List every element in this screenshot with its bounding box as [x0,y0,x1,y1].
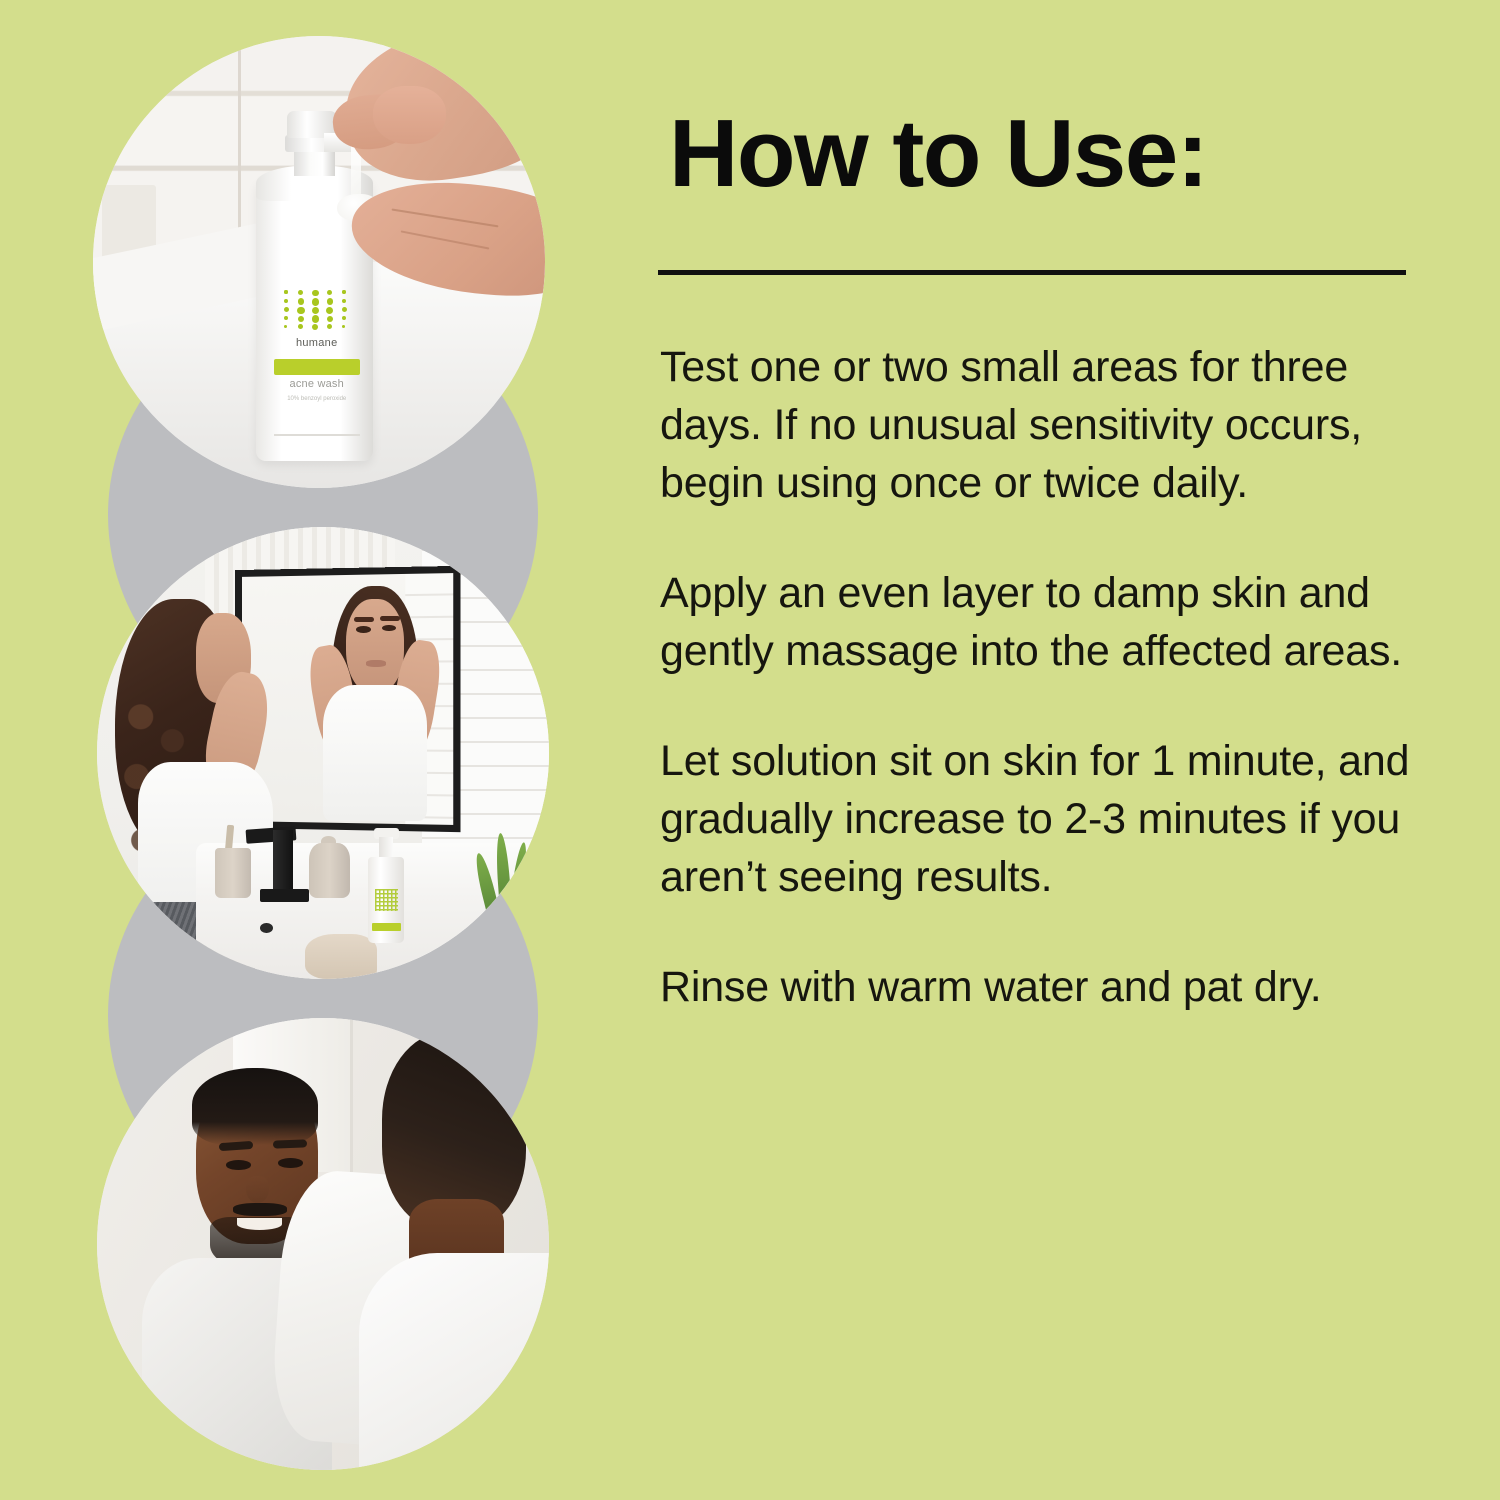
reflection-man-hair [192,1068,319,1145]
page-title: How to Use: [669,106,1207,202]
photo-dispensing-scene: humane acne wash 10% benzoyl peroxide [93,36,545,488]
instruction-step: Test one or two small areas for three da… [660,338,1416,512]
aloe-plant [477,816,549,934]
faucet-base [260,889,310,903]
product-name-label: acne wash [267,378,366,390]
bottle-fine-print [274,434,360,436]
ceramic-dispenser [309,843,350,897]
instruction-step: Rinse with warm water and pat dry. [660,958,1416,1016]
upper-hand-finger-b [373,86,445,145]
reflection-man-eye-right [278,1158,303,1167]
text-column: How to Use: Test one or two small areas … [658,0,1418,1500]
reflection-man-mustache [233,1203,287,1216]
reflection-eyebrow-left [354,617,374,622]
folded-towel [305,934,377,979]
faucet-neck [273,830,293,893]
image-column: humane acne wash 10% benzoyl peroxide [0,0,620,1500]
title-divider [658,270,1406,275]
brand-name-label: humane [267,337,366,349]
product-subtitle-label: 10% benzoyl peroxide [267,396,366,402]
ceramic-cup [215,848,251,898]
foreground-man-shoulder [359,1253,549,1470]
reflection-man-eyebrow-right [273,1139,307,1148]
instruction-steps-list: Test one or two small areas for three da… [660,338,1416,1016]
reflection-man-smile [237,1218,282,1230]
counter-bottle-neck [379,837,393,860]
instruction-step: Let solution sit on skin for 1 minute, a… [660,732,1416,906]
reflection-face [346,599,405,694]
reflection-man-nose [246,1176,269,1203]
counter-bottle-dot-logo [375,889,399,912]
counter-bottle-badge [372,923,401,931]
photo-applying [97,527,549,979]
how-to-use-infographic: humane acne wash 10% benzoyl peroxide [0,0,1500,1500]
photo-patting-dry-scene [97,1018,549,1470]
photo-patting-dry [97,1018,549,1470]
reflection-eyebrow-right [380,616,400,621]
strength-badge [274,359,360,374]
reflection-man-eye-left [226,1160,251,1169]
reflection-lips [366,660,386,666]
instruction-step: Apply an even layer to damp skin and gen… [660,564,1416,680]
brand-dot-grid-logo [278,287,350,330]
photo-dispensing: humane acne wash 10% benzoyl peroxide [93,36,545,488]
reflection-white-tank-top [323,685,427,821]
photo-applying-scene [97,527,549,979]
